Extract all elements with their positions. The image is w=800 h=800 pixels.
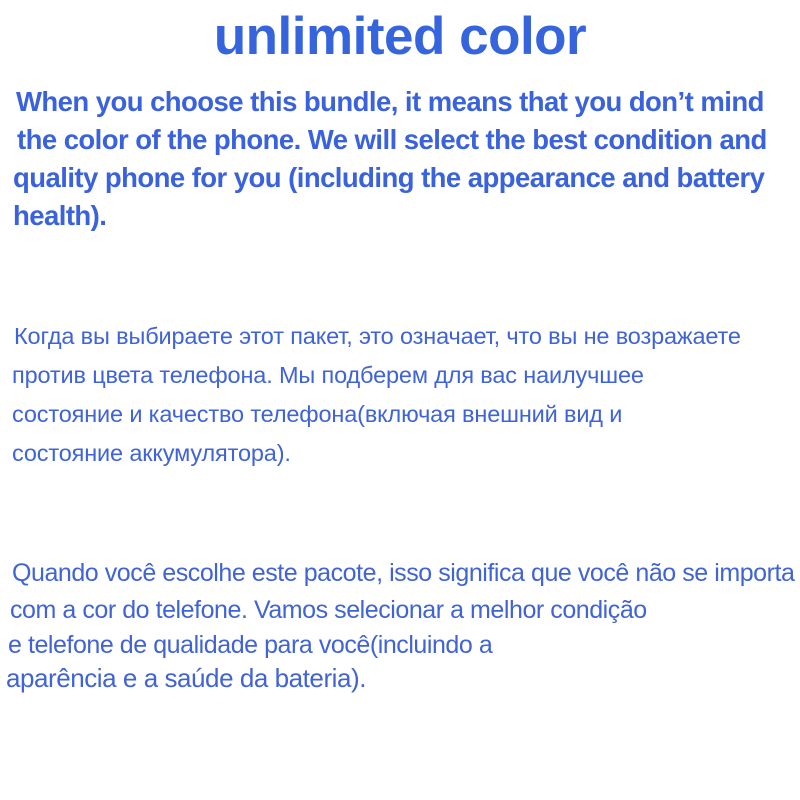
page-title: unlimited color: [0, 8, 800, 66]
portuguese-line-4: aparência e a saúde da bateria).: [0, 662, 800, 695]
english-line-4: health).: [0, 197, 800, 235]
product-description-banner: unlimited color When you choose this bun…: [0, 0, 800, 800]
portuguese-line-3: e telefone de qualidade para você(inclui…: [0, 629, 800, 662]
portuguese-line-1: Quando você escolhe este pacote, isso si…: [0, 555, 800, 592]
russian-description-block: Когда вы выбираете этот пакет, это означ…: [0, 317, 800, 473]
english-line-3: quality phone for you (including the app…: [0, 159, 800, 197]
english-line-2: the color of the phone. We will select t…: [0, 121, 800, 159]
russian-line-2: против цвета телефона. Мы подберем для в…: [0, 356, 800, 395]
portuguese-description-block: Quando você escolhe este pacote, isso si…: [0, 555, 800, 695]
russian-line-3: состояние и качество телефона(включая вн…: [0, 395, 800, 434]
russian-line-4: состояние аккумулятора).: [0, 434, 800, 473]
russian-line-1: Когда вы выбираете этот пакет, это означ…: [0, 317, 800, 356]
english-description-block: When you choose this bundle, it means th…: [0, 83, 800, 235]
portuguese-line-2: com a cor do telefone. Vamos selecionar …: [0, 592, 800, 629]
english-line-1: When you choose this bundle, it means th…: [0, 83, 800, 121]
